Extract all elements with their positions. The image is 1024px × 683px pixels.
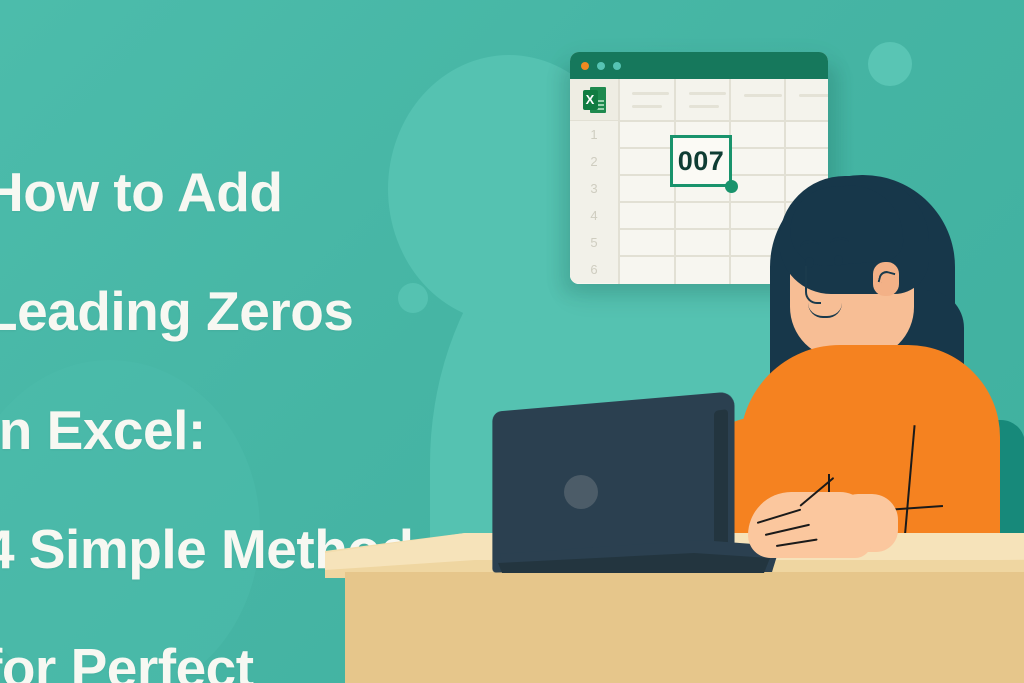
close-dot-icon[interactable]: [581, 62, 589, 70]
excel-icon: X: [583, 87, 606, 113]
column-header-placeholder: [689, 92, 726, 95]
row-header-5[interactable]: 5: [570, 229, 618, 256]
eyebrow-right: [830, 236, 850, 249]
background-circle-right: [868, 42, 912, 86]
selected-cell[interactable]: 007: [670, 135, 732, 187]
row-header-3[interactable]: 3: [570, 175, 618, 202]
column-header-placeholder: [689, 105, 719, 108]
hero-banner-image: How to Add Leading Zeros in Excel: 4 Sim…: [0, 0, 1024, 683]
excel-icon-letter: X: [583, 90, 598, 110]
window-titlebar: [570, 52, 828, 79]
column-header-placeholder: [799, 94, 828, 97]
laptop-logo: [564, 475, 598, 509]
laptop-lid-edge: [714, 409, 728, 561]
title-line-1: How to Add: [0, 163, 504, 222]
desk-front-panel: [345, 572, 1024, 683]
column-header-placeholder: [632, 92, 669, 95]
column-header-placeholder: [632, 105, 662, 108]
row-header-4[interactable]: 4: [570, 202, 618, 229]
row-header-2[interactable]: 2: [570, 148, 618, 175]
grid-line-vertical: [618, 79, 620, 284]
row-header-1[interactable]: 1: [570, 121, 618, 148]
column-header-placeholder: [744, 94, 782, 97]
minimize-dot-icon[interactable]: [597, 62, 605, 70]
eyebrow-left: [799, 239, 819, 253]
title-line-2: Leading Zeros: [0, 282, 504, 341]
selected-cell-value: 007: [678, 146, 725, 177]
title-line-3: in Excel:: [0, 401, 504, 460]
row-header-6[interactable]: 6: [570, 256, 618, 283]
select-all-corner[interactable]: X: [570, 79, 618, 120]
nose: [805, 266, 821, 304]
maximize-dot-icon[interactable]: [613, 62, 621, 70]
fill-handle[interactable]: [725, 180, 738, 193]
eye-right: [834, 255, 843, 266]
